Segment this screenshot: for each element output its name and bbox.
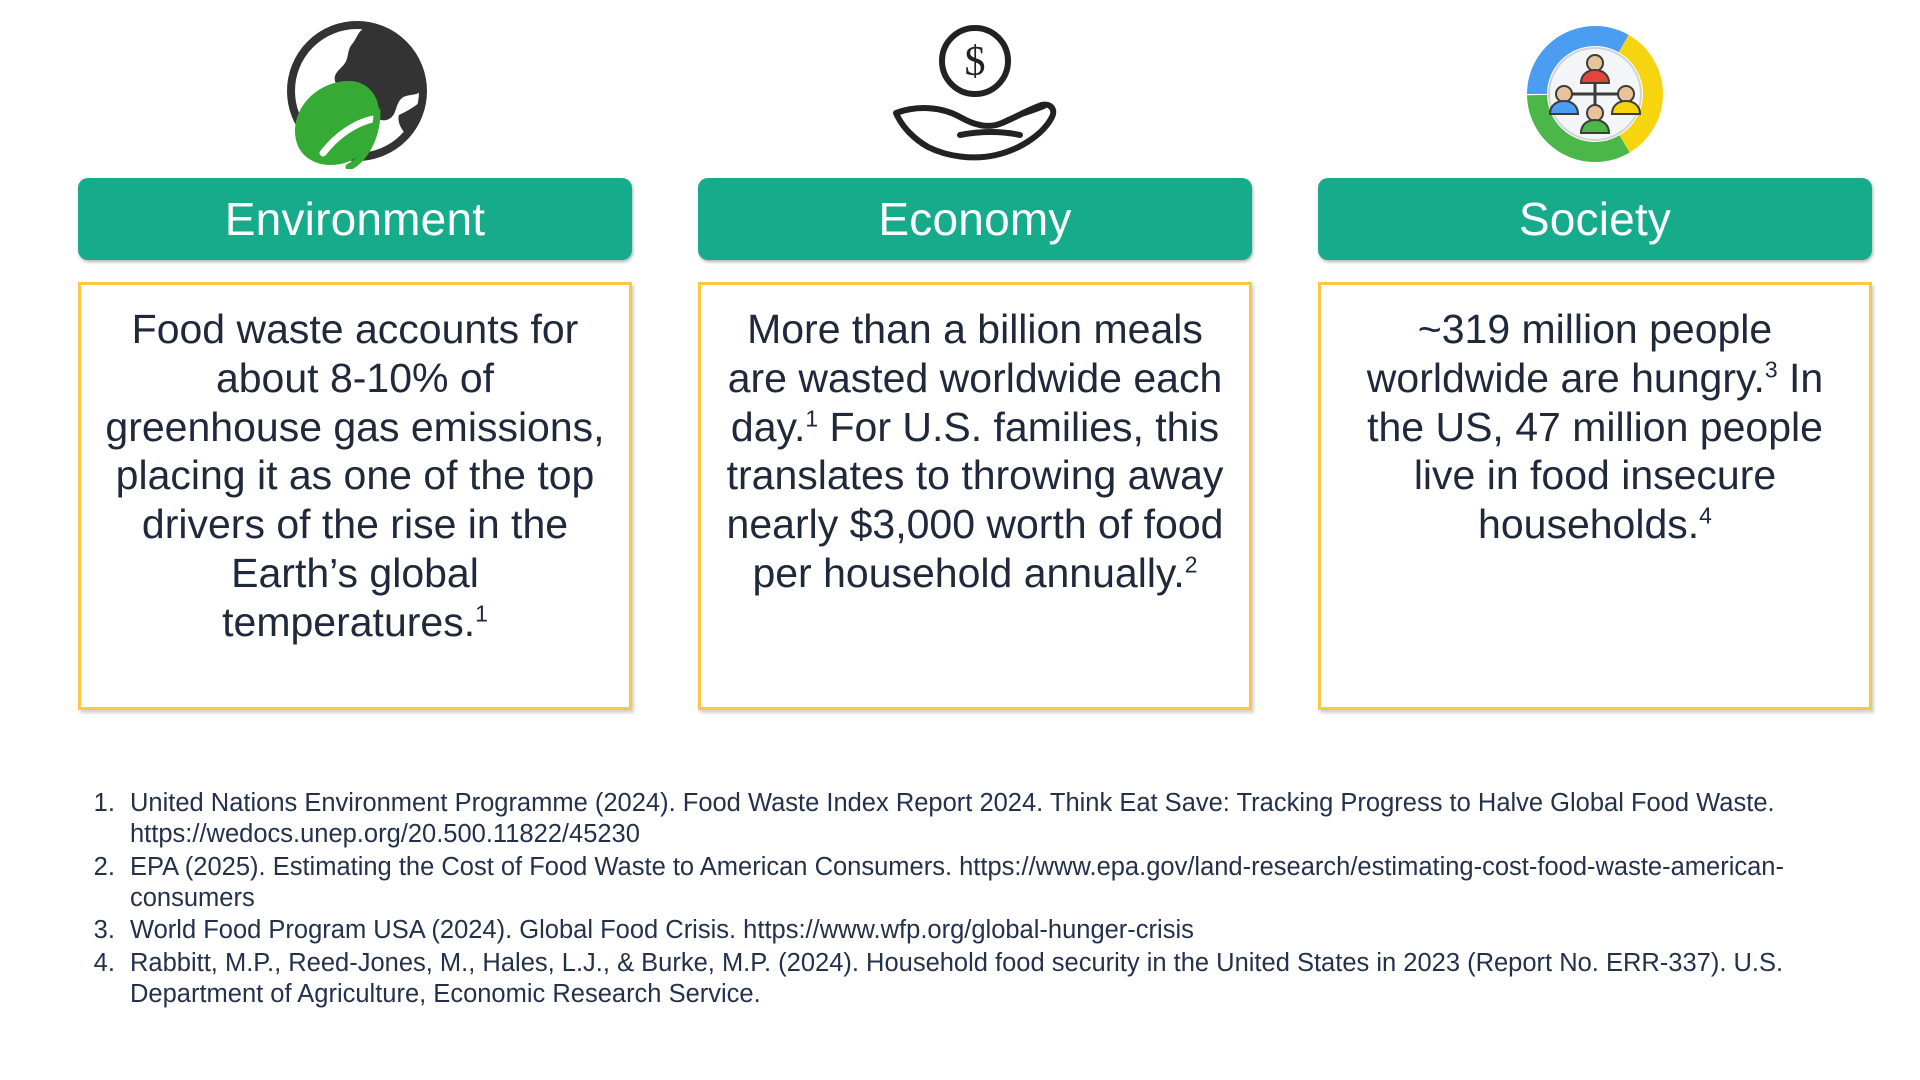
fact-body-part-a: ~319 million people worldwide are hungry… [1367,306,1772,401]
reference-item: World Food Program USA (2024). Global Fo… [122,915,1888,946]
svg-text:$: $ [965,39,986,85]
globe-leaf-icon [78,18,632,170]
references-list: United Nations Environment Programme (20… [78,788,1888,1010]
reference-item: Rabbitt, M.P., Reed-Jones, M., Hales, L.… [122,948,1888,1010]
pillar-society: Society ~319 million people worldwide ar… [1318,18,1872,710]
pillar-environment: Environment Food waste accounts for abou… [78,18,632,710]
citation-marker-a: 3 [1765,356,1778,382]
references-section: United Nations Environment Programme (20… [78,788,1888,1012]
fact-text-society: ~319 million people worldwide are hungry… [1343,305,1847,549]
pillar-economy: $ Economy More than a billion meals are … [698,18,1252,710]
hand-holding-dollar-coin-icon: $ [698,18,1252,170]
pillar-title-environment: Environment [225,196,485,242]
pillars-row: Environment Food waste accounts for abou… [0,0,1920,710]
reference-item: United Nations Environment Programme (20… [122,788,1888,850]
fact-card-environment: Food waste accounts for about 8-10% of g… [78,282,632,710]
citation-marker-b: 4 [1699,502,1712,528]
pillar-title-economy: Economy [878,196,1071,242]
fact-body: Food waste accounts for about 8-10% of g… [105,306,604,645]
pillar-title-society: Society [1519,196,1671,242]
people-network-circle-icon [1318,18,1872,170]
fact-text-environment: Food waste accounts for about 8-10% of g… [103,305,607,646]
reference-item: EPA (2025). Estimating the Cost of Food … [122,852,1888,914]
citation-marker-b: 2 [1185,551,1198,577]
citation-marker: 1 [475,600,488,626]
pillar-header-environment[interactable]: Environment [78,178,632,260]
pillar-header-society[interactable]: Society [1318,178,1872,260]
fact-card-society: ~319 million people worldwide are hungry… [1318,282,1872,710]
citation-marker-a: 1 [805,405,818,431]
fact-card-economy: More than a billion meals are wasted wor… [698,282,1252,710]
pillar-header-economy[interactable]: Economy [698,178,1252,260]
fact-text-economy: More than a billion meals are wasted wor… [723,305,1227,598]
